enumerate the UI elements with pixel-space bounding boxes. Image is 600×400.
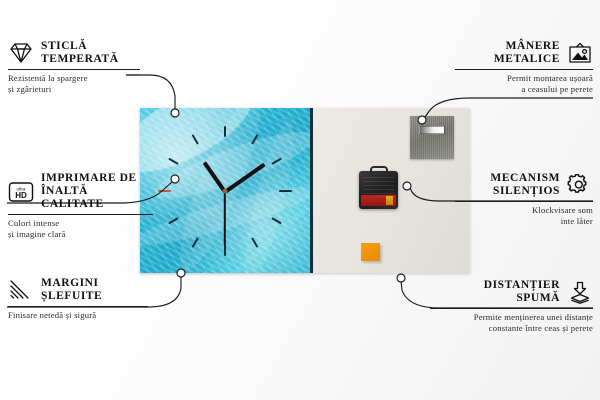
- infographic-canvas: STICLĂ TEMPERATĂ Rezistentă la spargere …: [0, 0, 600, 400]
- divider: [430, 308, 593, 309]
- mechanism-texture: [363, 176, 394, 194]
- mechanism-tab: [370, 166, 388, 175]
- divider: [8, 69, 140, 70]
- gear-icon: [567, 174, 593, 197]
- clock-dial: [140, 108, 310, 273]
- feature-high-quality-print: ultra HD IMPRIMARE DE ÎNALTĂ CALITATE Cu…: [8, 172, 153, 239]
- feature-title-line2: SILENȚIOS: [493, 185, 560, 197]
- feature-title-line1: MÂNERE: [506, 40, 560, 52]
- divider: [455, 201, 593, 202]
- clock-mechanism: [359, 171, 398, 209]
- divider: [455, 69, 593, 70]
- feature-title-line1: DISTANȚIER: [484, 279, 560, 291]
- feature-foam-spacer: DISTANȚIER SPUMĂ Permite menținerea unei…: [430, 279, 593, 333]
- feature-sub-line2: și zgârieturi: [8, 84, 51, 94]
- feature-title-line1: STICLĂ: [41, 40, 87, 52]
- feature-title-line2: ÎNALTĂ CALITATE: [41, 185, 104, 210]
- ultra-hd-icon: ultra HD: [8, 180, 34, 203]
- feature-sub-line1: Permit montarea ușoară: [507, 73, 593, 83]
- product-image: [140, 108, 470, 273]
- feature-title-line2: METALICE: [494, 53, 560, 65]
- feature-sub-line1: Rezistentă la spargere: [8, 73, 88, 83]
- feature-title-line1: IMPRIMARE DE: [41, 172, 137, 184]
- polished-edge-icon: [8, 279, 34, 302]
- feature-sub-line2: a ceasului pe perete: [521, 84, 593, 94]
- press-down-icon: [567, 281, 593, 304]
- mechanism-battery: [361, 195, 396, 206]
- feature-polished-edges: MARGINI ȘLEFUITE Finisare netedă și sigu…: [8, 277, 148, 321]
- diamond-icon: [8, 42, 34, 65]
- metal-hanger: [410, 116, 454, 159]
- picture-hanger-icon: [567, 42, 593, 65]
- feature-sub-line2: constante între ceas și perete: [489, 323, 593, 333]
- clock-minute-hand: [224, 163, 265, 193]
- hanger-slot: [419, 126, 445, 134]
- feature-title-line2: SPUMĂ: [516, 292, 560, 304]
- feature-sub-line2: inte låter: [561, 216, 593, 226]
- feature-sub-line1: Finisare netedă și sigură: [8, 310, 96, 320]
- feature-title-line1: MECANISM: [490, 172, 560, 184]
- feature-silent-mechanism: MECANISM SILENȚIOS Klockvisare som inte …: [455, 172, 593, 226]
- feature-sub-line1: Permite menținerea unei distanțe: [474, 312, 593, 322]
- feature-sub-line1: Klockvisare som: [532, 205, 593, 215]
- clock-hub: [223, 188, 228, 193]
- divider: [8, 214, 153, 215]
- feature-sub-line1: Culori intense: [8, 218, 59, 228]
- feature-sub-line2: și imagine clară: [8, 229, 66, 239]
- clock-back-panel: [313, 108, 470, 273]
- feature-title-line2: TEMPERATĂ: [41, 53, 119, 65]
- clock-second-hand: [224, 191, 226, 246]
- divider: [8, 306, 148, 307]
- feature-tempered-glass: STICLĂ TEMPERATĂ Rezistentă la spargere …: [8, 40, 140, 94]
- clock-face-panel: [140, 108, 313, 273]
- feature-title-line1: MARGINI: [41, 277, 99, 289]
- svg-text:HD: HD: [15, 191, 27, 200]
- feature-metal-handles: MÂNERE METALICE Permit montarea ușoară a…: [455, 40, 593, 94]
- foam-spacer: [361, 243, 380, 261]
- feature-title-line2: ȘLEFUITE: [41, 290, 102, 302]
